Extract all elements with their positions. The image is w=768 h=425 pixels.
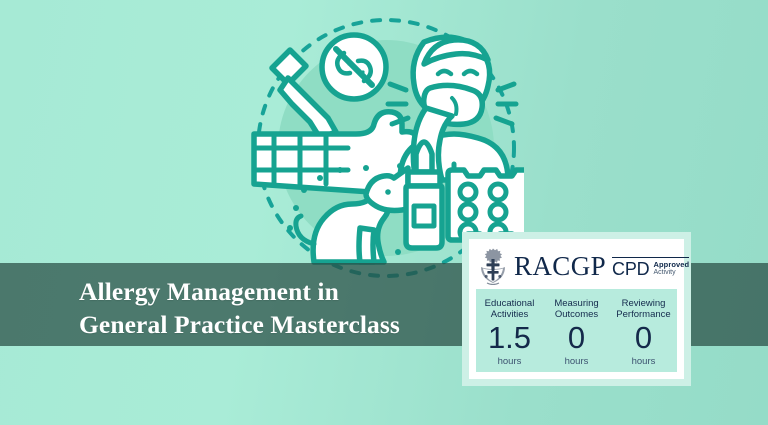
stat-value: 0 bbox=[635, 322, 652, 353]
cpd-abbreviation: CPD bbox=[612, 260, 649, 278]
stat-value: 1.5 bbox=[488, 322, 531, 353]
stat-unit: hours bbox=[632, 356, 656, 367]
activity-label: Activity bbox=[653, 269, 689, 276]
page-title-line-2: General Practice Masterclass bbox=[79, 309, 479, 342]
stat-unit: hours bbox=[498, 356, 522, 367]
stat-label: Measuring Outcomes bbox=[554, 298, 598, 320]
stat-label-line-1: Educational bbox=[485, 298, 535, 309]
stat-label-line-1: Reviewing bbox=[622, 298, 666, 309]
page-title-line-1: Allergy Management in bbox=[79, 276, 479, 309]
stat-label: Educational Activities bbox=[485, 298, 535, 320]
cpd-badge-inner: RACGP CPD Approved Activity Educational … bbox=[469, 239, 684, 379]
page-title: Allergy Management in General Practice M… bbox=[79, 276, 479, 341]
stat-reviewing-performance: Reviewing Performance 0 hours bbox=[610, 289, 677, 372]
approved-activity-mark: Approved Activity bbox=[653, 260, 689, 276]
racgp-crest-icon bbox=[478, 247, 508, 285]
approved-label: Approved bbox=[653, 261, 689, 269]
stat-label-line-2: Outcomes bbox=[555, 309, 598, 320]
stat-label-line-2: Performance bbox=[616, 309, 670, 320]
stat-label-line-2: Activities bbox=[491, 309, 528, 320]
racgp-wordmark: RACGP bbox=[514, 253, 606, 280]
cpd-lockup: CPD Approved Activity bbox=[612, 257, 689, 278]
cpd-hours-stats: Educational Activities 1.5 hours Measuri… bbox=[476, 289, 677, 372]
stat-label: Reviewing Performance bbox=[616, 298, 670, 320]
stat-unit: hours bbox=[565, 356, 589, 367]
racgp-logo-row: RACGP CPD Approved Activity bbox=[469, 239, 684, 289]
stat-measuring-outcomes: Measuring Outcomes 0 hours bbox=[543, 289, 610, 372]
stat-value: 0 bbox=[568, 322, 585, 353]
stat-label-line-1: Measuring bbox=[554, 298, 598, 309]
racgp-cpd-badge: RACGP CPD Approved Activity Educational … bbox=[462, 232, 691, 386]
stat-educational-activities: Educational Activities 1.5 hours bbox=[476, 289, 543, 372]
course-banner: Allergy Management in General Practice M… bbox=[0, 0, 768, 425]
no-peanut-icon bbox=[322, 35, 386, 99]
